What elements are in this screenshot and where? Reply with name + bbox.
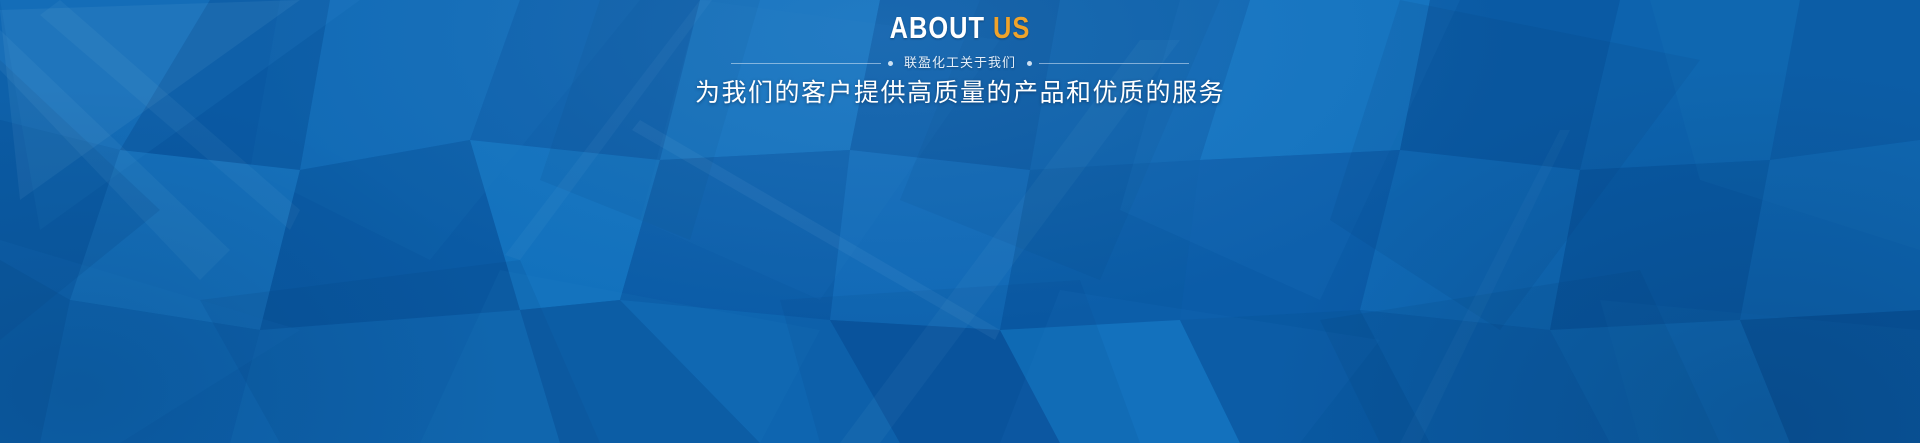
about-us-banner: ABOUT US 联盈化工关于我们 为我们的客户提供高质量的产品和优质的服务 xyxy=(0,0,1920,443)
banner-content: ABOUT US 联盈化工关于我们 为我们的客户提供高质量的产品和优质的服务 xyxy=(0,0,1920,109)
title-divider: 联盈化工关于我们 xyxy=(0,54,1920,72)
divider-dot-right-icon xyxy=(1027,61,1032,66)
page-title: ABOUT US xyxy=(173,11,1747,45)
divider-rule-left xyxy=(731,63,881,64)
divider-rule-right xyxy=(1039,63,1189,64)
banner-headline: 为我们的客户提供高质量的产品和优质的服务 xyxy=(0,77,1920,109)
divider-dot-left-icon xyxy=(888,61,893,66)
subtitle-label: 联盈化工关于我们 xyxy=(900,54,1020,72)
page-title-us: US xyxy=(993,10,1030,45)
page-title-about: ABOUT xyxy=(890,10,985,45)
